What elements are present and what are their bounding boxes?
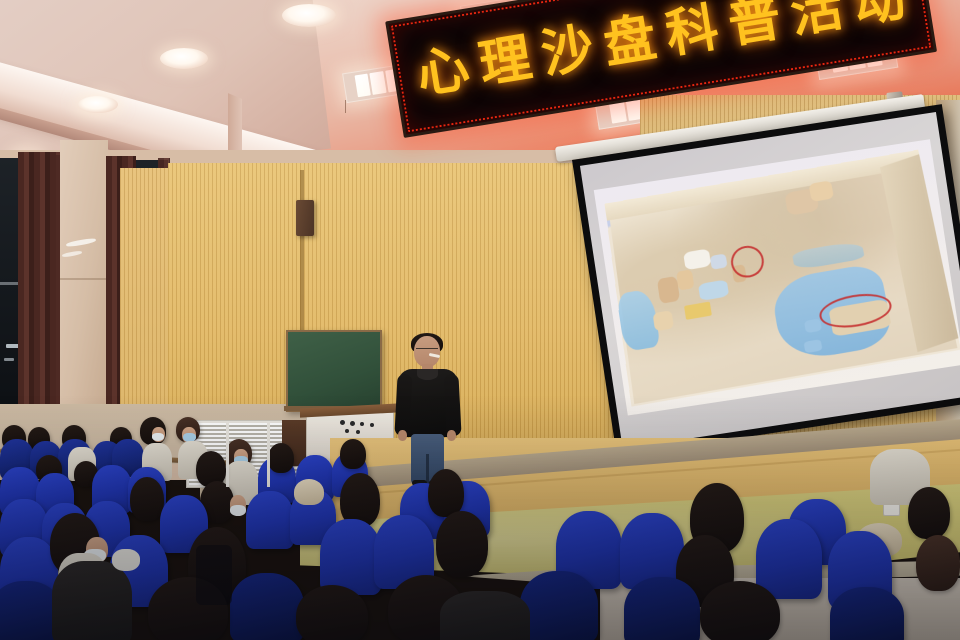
banner-char-8: 动 [849, 0, 909, 31]
audience-head [428, 469, 464, 517]
banner-char-4: 盘 [600, 12, 660, 72]
seat[interactable] [830, 587, 904, 640]
audience-bag [112, 549, 140, 571]
seat[interactable] [756, 519, 822, 599]
slide-image [594, 139, 960, 415]
banner-char-1: 心 [413, 42, 473, 102]
audience-head [436, 511, 488, 577]
audience-head [268, 443, 294, 473]
audience-head [296, 585, 368, 640]
seat[interactable] [246, 491, 294, 549]
banner-char-6: 普 [725, 0, 785, 51]
downlight-icon [160, 48, 208, 69]
banner-char-3: 沙 [538, 22, 598, 82]
audience-cap-icon [294, 479, 324, 505]
presenter-collar [417, 369, 438, 380]
banner-char-5: 科 [662, 2, 722, 62]
seat[interactable] [520, 571, 598, 640]
audience-head [916, 535, 960, 591]
audience-head [130, 477, 164, 521]
sand-tray-photo [604, 150, 960, 407]
audience [0, 395, 960, 640]
audience-head [340, 439, 366, 469]
miniature-figure [676, 269, 695, 290]
seat[interactable] [320, 519, 382, 595]
aisle-shadow [196, 545, 232, 605]
audience-head [908, 487, 950, 539]
seat[interactable] [230, 573, 304, 640]
banner-char-2: 理 [476, 32, 536, 92]
audience-head [700, 581, 780, 640]
audience-jacket [52, 561, 132, 640]
face-mask-icon [230, 505, 246, 516]
audience-jacket [440, 591, 530, 640]
auditorium-scene: 心 理 沙 盘 科 普 活 动 [0, 0, 960, 640]
wall-column-left [60, 140, 108, 425]
face-mask-icon [152, 433, 164, 441]
downlight-icon [282, 4, 336, 27]
curtain-left [18, 152, 60, 418]
seat[interactable] [624, 577, 700, 640]
banner-char-7: 活 [787, 0, 847, 41]
ceiling-wire [345, 100, 346, 113]
downlight-icon [78, 96, 118, 113]
wall-speaker-icon [296, 200, 314, 236]
